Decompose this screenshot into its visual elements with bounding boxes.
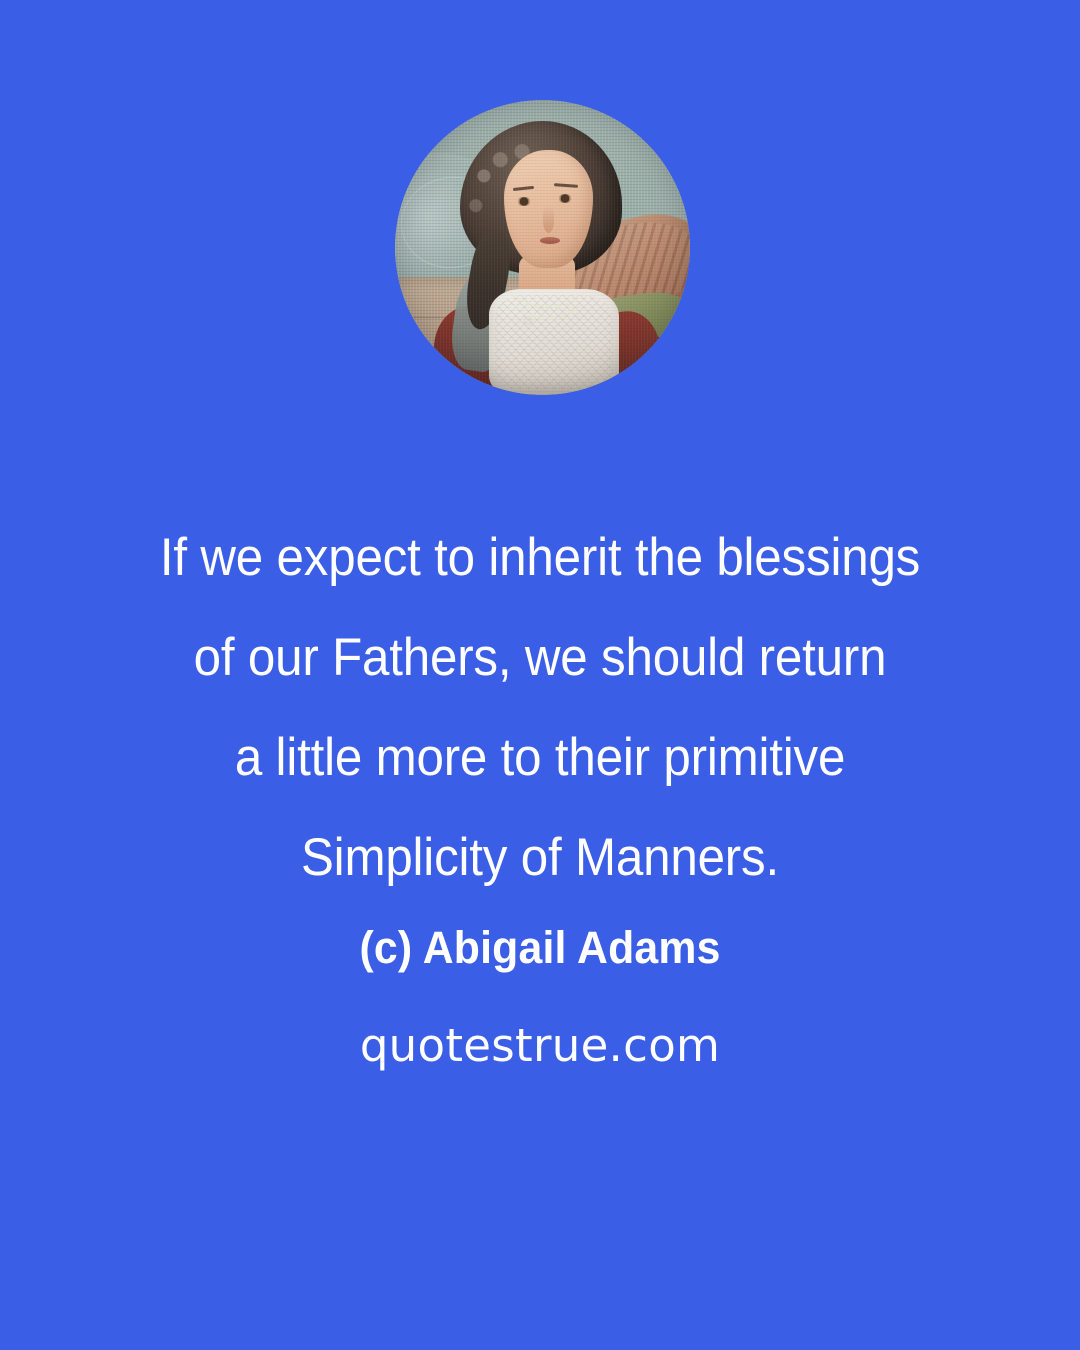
site-watermark: quotestrue.com	[0, 1019, 1080, 1072]
quote-line: If we expect to inherit the blessings	[38, 508, 1042, 608]
portrait-abigail-adams	[395, 100, 690, 395]
quote-attribution: (c) Abigail Adams	[27, 922, 1053, 974]
eye-left	[516, 197, 532, 205]
eye-right	[557, 194, 573, 202]
portrait-image	[395, 100, 690, 395]
quote-line: of our Fathers, we should return	[38, 608, 1042, 708]
quote-line: a little more to their primitive	[38, 708, 1042, 808]
nose	[543, 206, 555, 233]
quote-line: Simplicity of Manners.	[38, 808, 1042, 908]
quote-text: If we expect to inherit the blessings of…	[0, 508, 1080, 908]
quote-card: If we expect to inherit the blessings of…	[0, 0, 1080, 1350]
